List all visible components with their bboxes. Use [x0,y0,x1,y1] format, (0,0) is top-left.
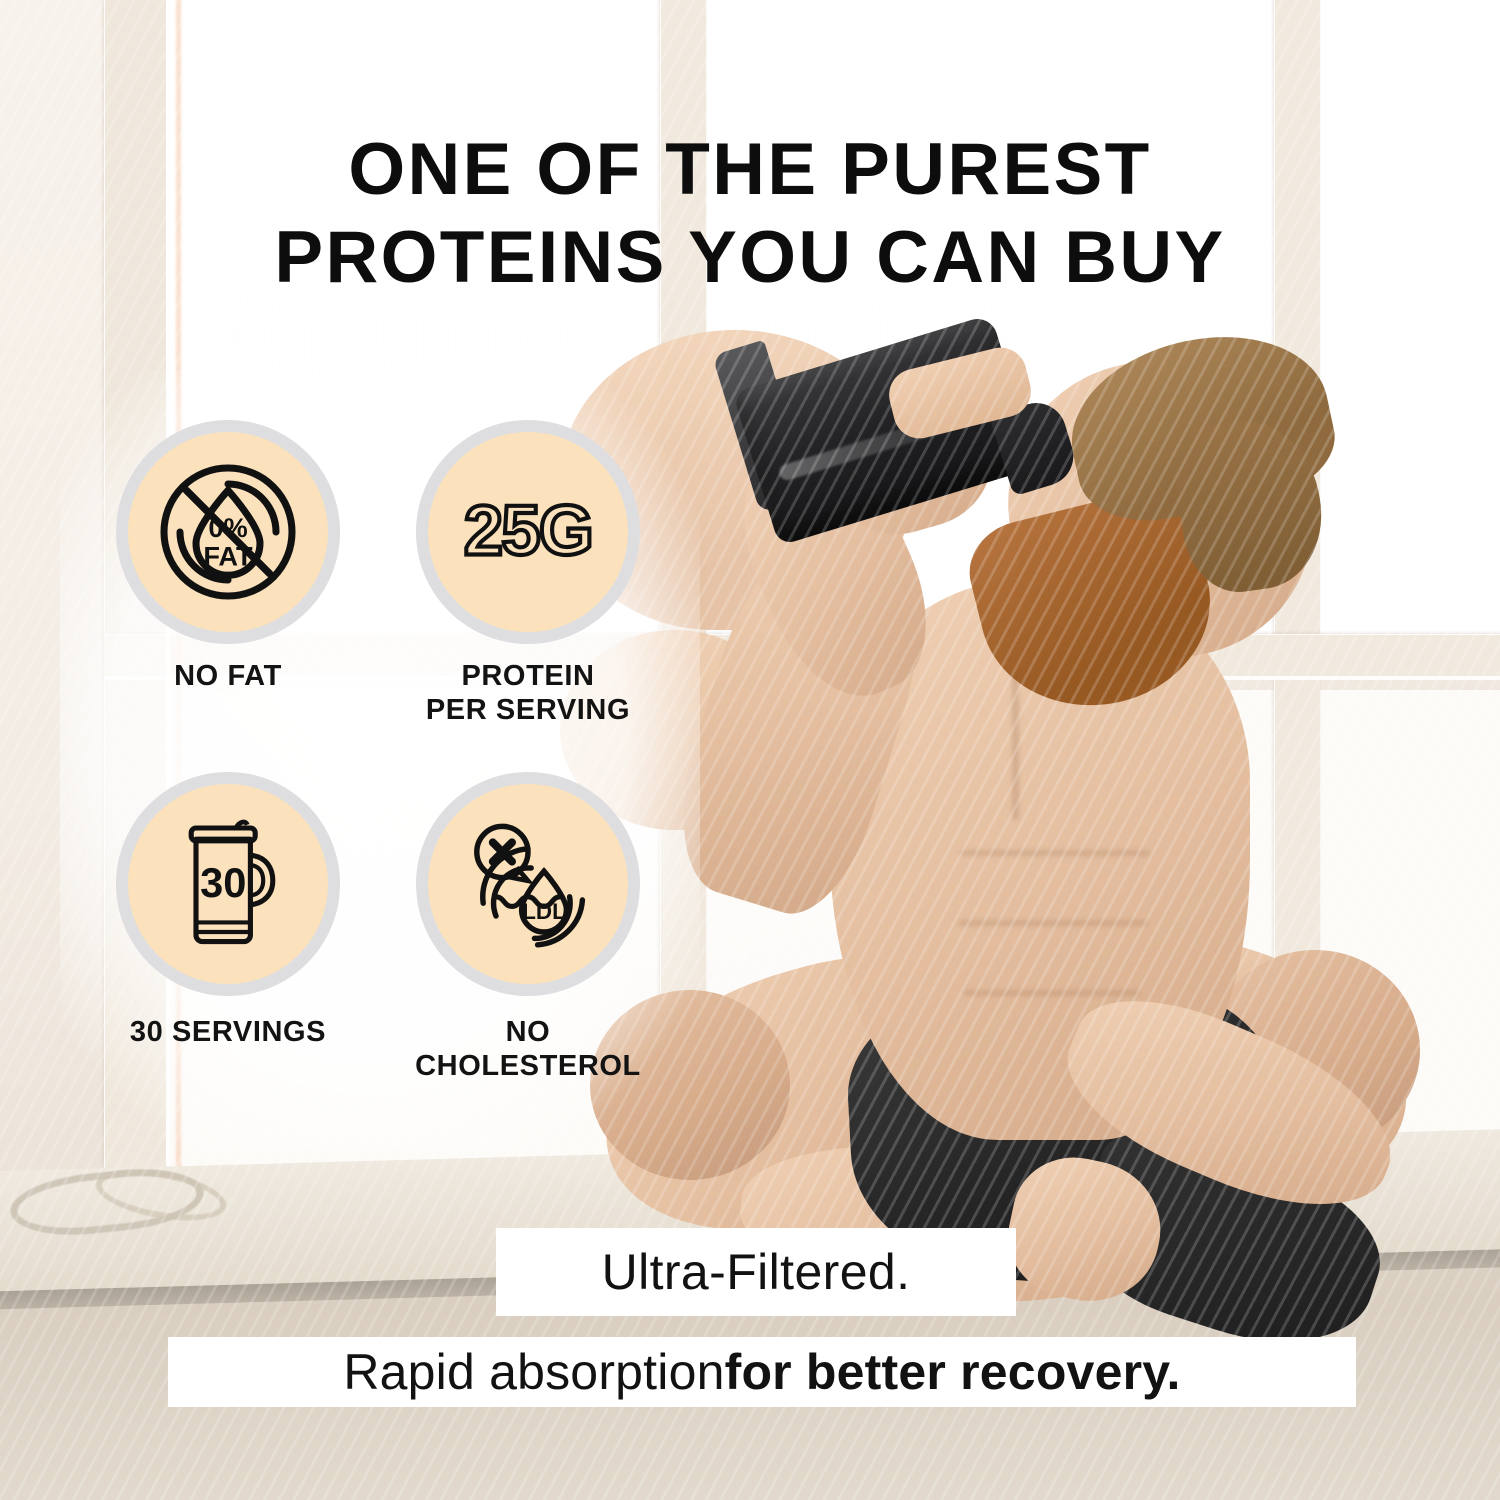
banner-rapid-absorption-bold: for better recovery. [725,1343,1181,1401]
badge-disc: 25G [416,420,640,644]
badge-icon-text-0pct: 0% [208,512,247,543]
badge-disc: 0% FAT [116,420,340,644]
protein-grams-icon: 25G [448,452,608,612]
badge-no-cholesterol[interactable]: LDL NO CHOLESTEROL [378,772,678,1084]
badge-protein-per-serving[interactable]: 25G PROTEIN PER SERVING [378,420,678,728]
badge-30-servings[interactable]: 30 30 SERVINGS [78,772,378,1084]
badge-icon-text-30: 30 [200,859,246,906]
badge-no-fat[interactable]: 0% FAT NO FAT [78,420,378,728]
badge-icon-text-ldl: LDL [522,899,566,924]
badge-label: 30 SERVINGS [130,1016,326,1050]
banner-rapid-absorption-light: Rapid absorption [343,1343,724,1401]
badge-disc: LDL [416,772,640,996]
badge-label: NO FAT [174,660,282,694]
no-fat-droplet-icon: 0% FAT [148,452,308,612]
badge-icon-text-25g: 25G [464,490,592,569]
banner-ultra-filtered: Ultra-Filtered. [496,1228,1016,1316]
badge-row-2: 30 30 SERVINGS [78,772,678,1084]
badge-disc: 30 [116,772,340,996]
headline-line-2: PROTEINS YOU CAN BUY [0,214,1500,302]
badge-row-1: 0% FAT NO FAT 25G PROTEIN PER SERVI [78,420,678,728]
banner-ultra-filtered-text: Ultra-Filtered. [602,1243,911,1301]
badge-label: PROTEIN PER SERVING [426,660,630,728]
badge-icon-text-fat: FAT [203,541,253,572]
banner-rapid-absorption: Rapid absorption for better recovery. [168,1337,1356,1407]
headline: ONE OF THE PUREST PROTEINS YOU CAN BUY [0,126,1500,303]
badge-label: NO CHOLESTEROL [415,1016,641,1084]
shaker-cup-icon: 30 [148,804,308,964]
feature-badge-grid: 0% FAT NO FAT 25G PROTEIN PER SERVI [78,420,678,1084]
headline-line-1: ONE OF THE PUREST [0,126,1500,214]
infographic-canvas: ONE OF THE PUREST PROTEINS YOU CAN BUY [0,0,1500,1500]
no-cholesterol-ldl-icon: LDL [448,804,608,964]
